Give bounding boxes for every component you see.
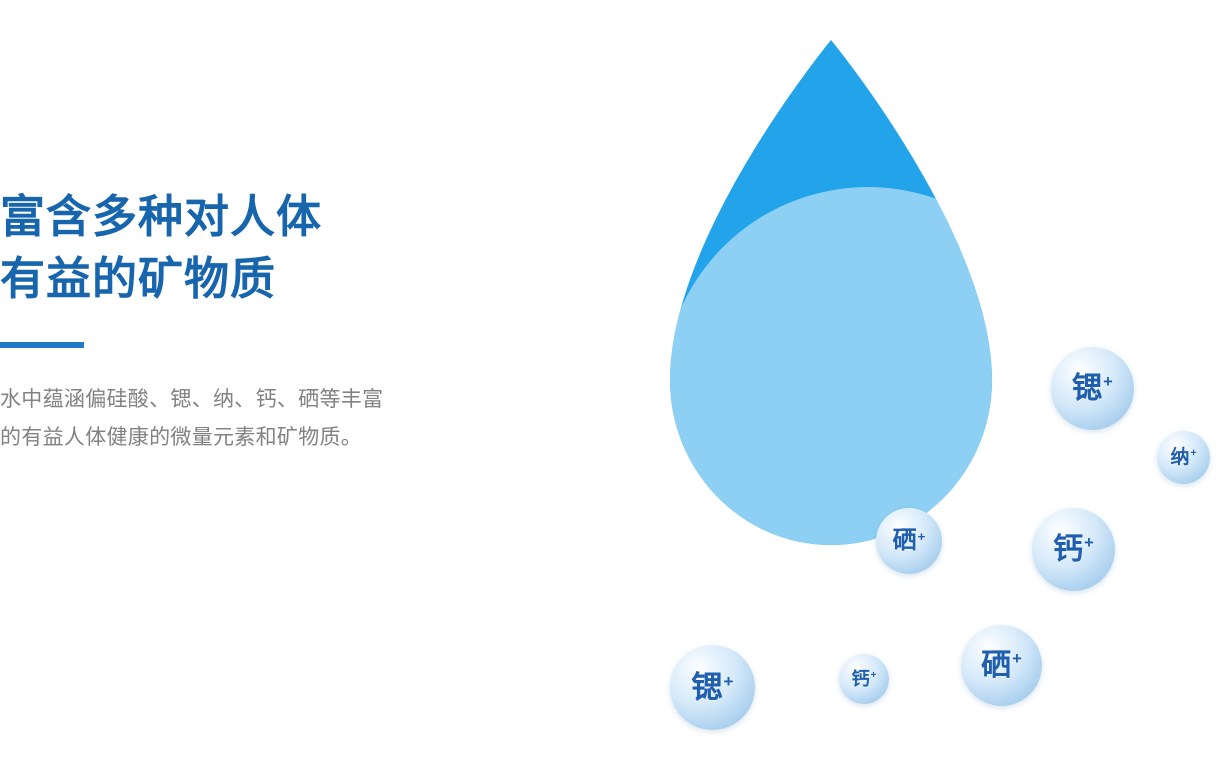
bubble-calcium-small: 钙+ [839,654,889,704]
mineral-charge: + [871,671,877,681]
mineral-label: 钙+ [852,670,877,688]
mineral-charge: + [724,673,734,690]
text-panel: 富含多种对人体 有益的矿物质 水中蕴涵偏硅酸、锶、纳、钙、硒等丰富 的有益人体健… [0,186,560,457]
mineral-charge: + [1084,535,1094,552]
description-line2: 的有益人体健康的微量元素和矿物质。 [0,419,560,457]
mineral-label: 锶+ [1072,374,1113,404]
droplet-svg [600,20,1020,600]
droplet-outer-shape [670,40,992,545]
mineral-label: 硒+ [981,651,1022,681]
droplet-inner-highlight [663,187,1020,597]
water-droplet-illustration [600,20,1020,600]
bubble-selenium-droplet: 硒+ [876,508,942,574]
mineral-symbol: 钙 [852,670,870,688]
mineral-symbol: 硒 [893,529,917,553]
mineral-label: 锶+ [692,672,734,703]
bubble-sodium-right: 纳+ [1157,431,1210,484]
bubble-strontium-right: 锶+ [1051,347,1134,430]
page-title-line2: 有益的矿物质 [0,248,560,310]
mineral-label: 硒+ [893,529,926,553]
mineral-symbol: 锶 [692,672,723,703]
mineral-charge: + [1103,374,1113,391]
bubble-strontium-bottom: 锶+ [670,645,755,730]
description-line1: 水中蕴涵偏硅酸、锶、纳、钙、硒等丰富 [0,381,560,419]
mineral-charge: + [918,530,926,543]
mineral-label: 纳+ [1170,448,1196,467]
mineral-label: 钙+ [1053,535,1094,565]
mineral-symbol: 硒 [981,651,1011,681]
bubble-calcium-right: 钙+ [1032,508,1115,591]
mineral-charge: + [1012,651,1022,668]
bubble-selenium-bottom: 硒+ [961,625,1042,706]
hero-banner: 富含多种对人体 有益的矿物质 水中蕴涵偏硅酸、锶、纳、钙、硒等丰富 的有益人体健… [0,0,1220,783]
mineral-charge: + [1190,449,1196,459]
mineral-symbol: 锶 [1072,374,1102,404]
mineral-symbol: 钙 [1053,535,1083,565]
title-divider [0,342,84,348]
page-title-line1: 富含多种对人体 [0,186,560,248]
mineral-symbol: 纳 [1170,448,1189,467]
